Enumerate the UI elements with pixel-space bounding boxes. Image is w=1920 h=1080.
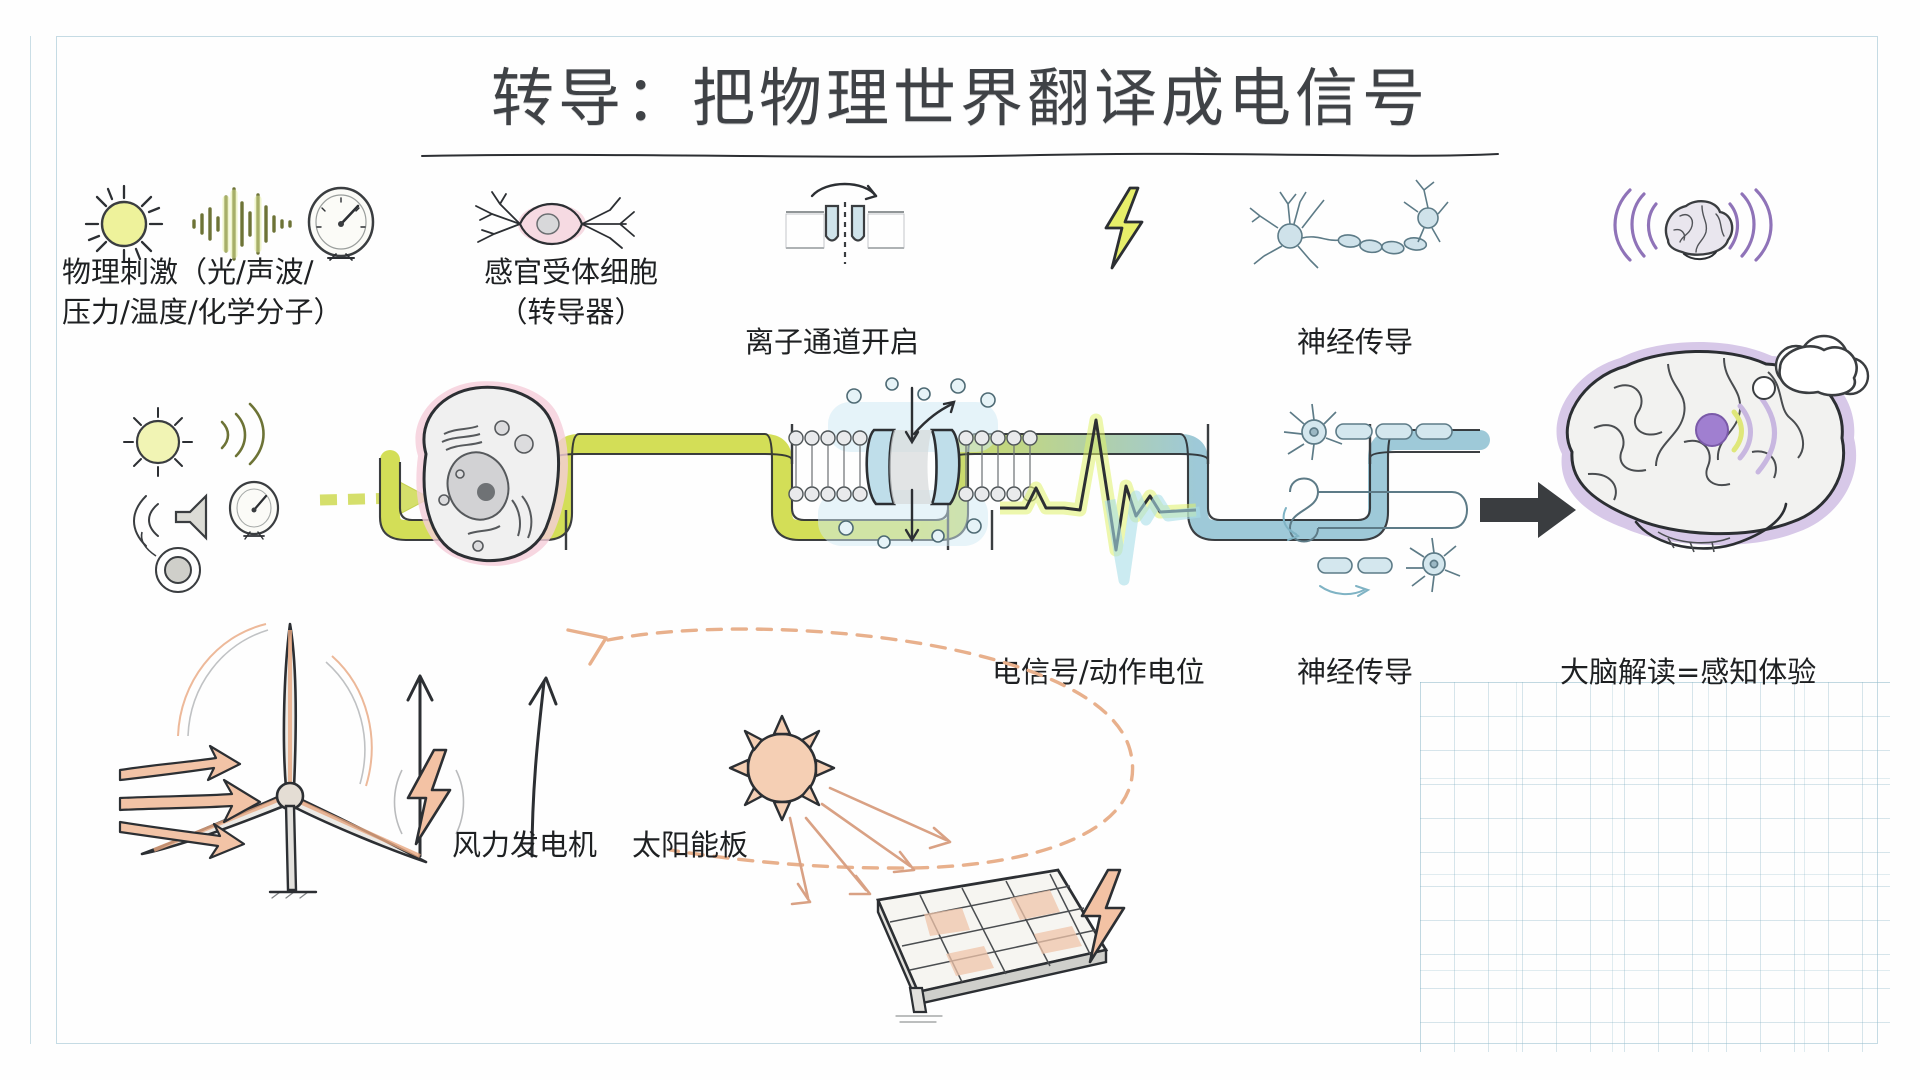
brain-waves-icon (1598, 178, 1788, 270)
label-receptor-cell: 感官受体细胞 （转导器） (466, 252, 676, 332)
ion-gate-icon (786, 178, 904, 268)
synapse-chain-icon (1248, 176, 1448, 272)
neuron-icon (470, 186, 640, 262)
page-title: 转导：把物理世界翻译成电信号 (0, 48, 1920, 139)
wind-turbine-icon (120, 600, 450, 900)
label-brain-perception: 大脑解读=感知体验 (1560, 652, 1816, 692)
infographic-canvas: 转导：把物理世界翻译成电信号 (0, 0, 1920, 1080)
solar-panel-icon (710, 700, 1130, 1020)
action-potential-waveform (1000, 400, 1230, 600)
label-wind-turbine: 风力发电机 (452, 825, 597, 865)
lightning-bolt-icon (1098, 186, 1150, 270)
receptor-cell-illustration (382, 368, 612, 598)
label-nerve-conduction-bottom: 神经传导 (1297, 652, 1413, 692)
myelin-axon-illustration (1282, 400, 1512, 600)
brain-illustration (1528, 332, 1888, 582)
stimulus-cluster (110, 400, 350, 600)
page-margin-line (30, 36, 31, 1044)
label-stimulus: 物理刺激（光/声波/ 压力/温度/化学分子） (62, 252, 343, 332)
title-underline (420, 150, 1500, 162)
